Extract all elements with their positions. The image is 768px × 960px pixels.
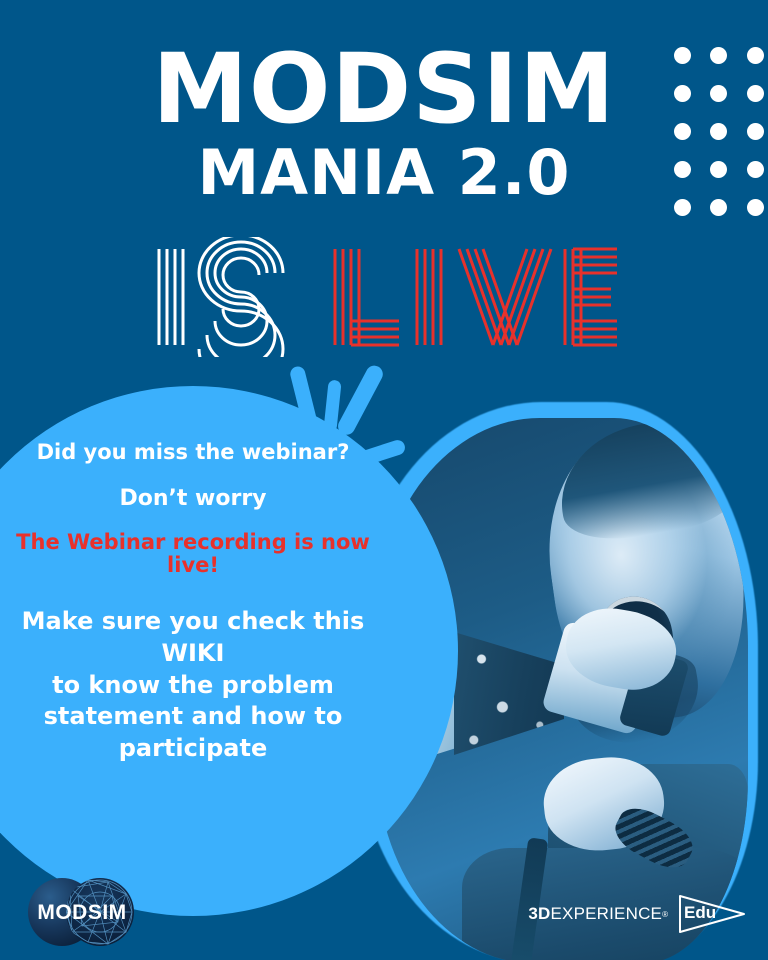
- message-line-3-highlight: The Webinar recording is now live!: [14, 531, 372, 576]
- brand-experience: EXPERIENCE: [551, 904, 663, 924]
- letter-I: [159, 249, 183, 345]
- poster-canvas: MODSIM MANIA 2.0: [0, 0, 768, 960]
- cta-wiki: WIKI: [162, 639, 225, 667]
- page-title: MODSIM: [0, 42, 768, 136]
- cta-part-1: Make sure you check this: [22, 607, 365, 635]
- brand-edu-label: Edu: [684, 903, 716, 923]
- modsim-logo[interactable]: MODSIM: [8, 862, 158, 954]
- is-live-striped-heading: [0, 234, 768, 360]
- letter-E: [565, 249, 617, 345]
- logo-text: MODSIM: [37, 901, 126, 924]
- letter-I-2: [417, 249, 441, 345]
- 3dexperience-edu-brand: 3DEXPERIENCE® Edu: [528, 892, 750, 936]
- letter-V: [459, 249, 551, 345]
- message-line-4: Make sure you check this WIKI to know th…: [14, 606, 372, 764]
- registered-mark: ®: [662, 910, 668, 919]
- message-line-2: Don’t worry: [14, 486, 372, 511]
- brand-3d-prefix: 3D: [528, 904, 550, 924]
- letter-S: [199, 237, 283, 357]
- is-live-svg: [149, 237, 619, 357]
- compass-triangle-icon: Edu: [674, 892, 750, 936]
- message-line-1: Did you miss the webinar?: [14, 440, 372, 464]
- letter-L: [335, 249, 399, 345]
- message-block: Did you miss the webinar? Don’t worry Th…: [0, 440, 386, 765]
- page-subtitle: MANIA 2.0: [0, 142, 768, 204]
- cta-part-3: to know the problem statement and how to…: [44, 671, 343, 762]
- heading-block: MODSIM MANIA 2.0: [0, 0, 768, 204]
